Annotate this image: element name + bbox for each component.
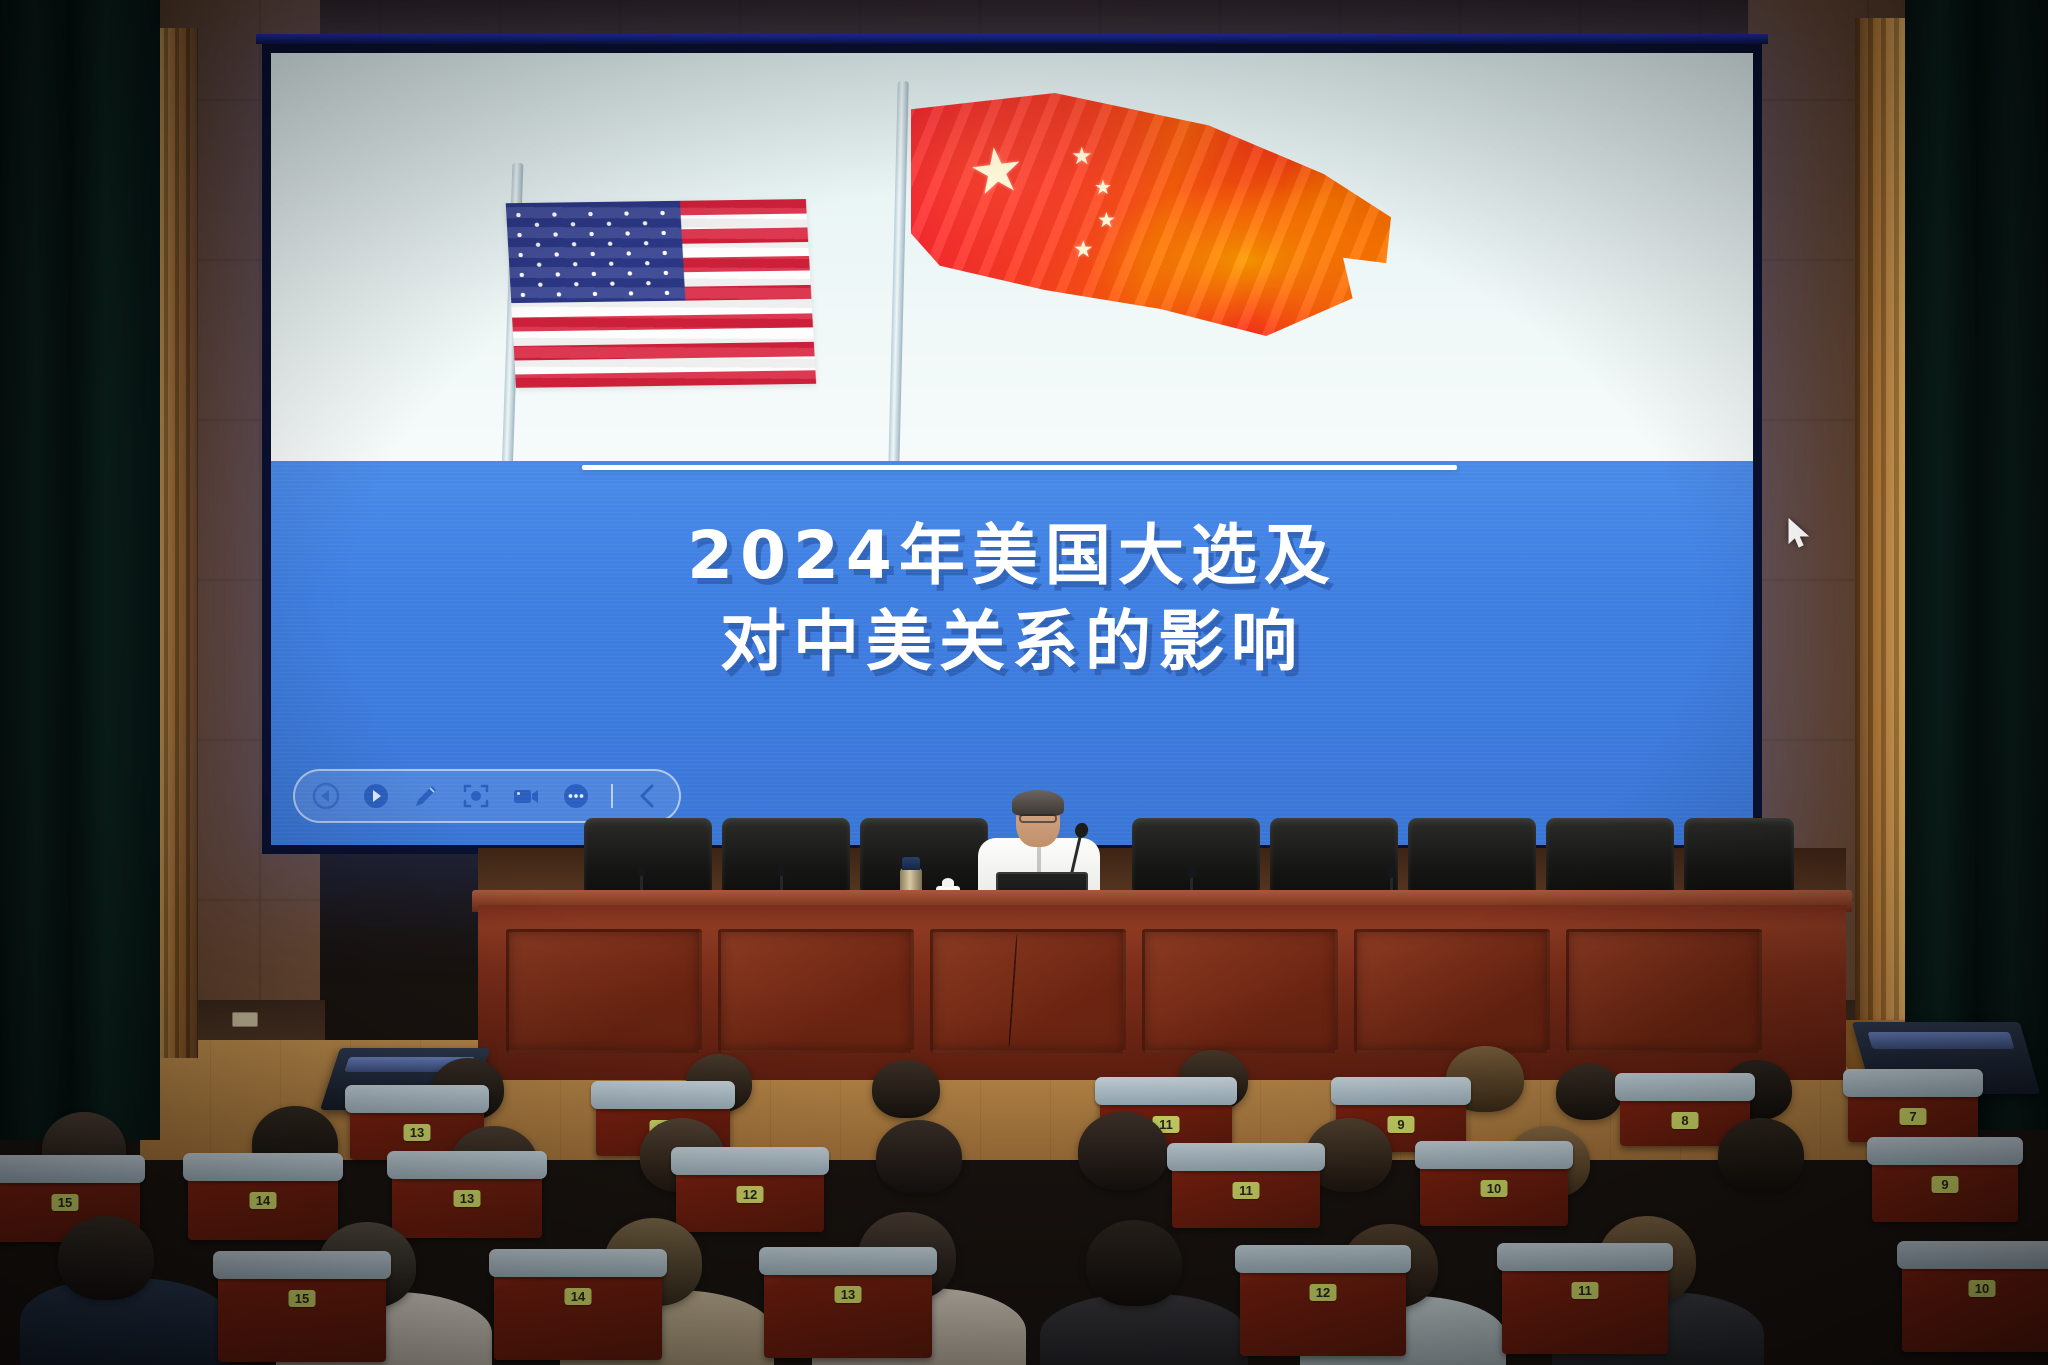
seat-cushion	[1867, 1137, 2023, 1165]
right-triangle-circle-icon[interactable]	[361, 781, 391, 811]
attendee-head	[872, 1060, 940, 1118]
seat-number-label: 10	[1481, 1180, 1508, 1197]
seat-cushion	[213, 1251, 391, 1279]
podium-panel	[506, 929, 702, 1053]
presentation-slide[interactable]: ★ ★ ★ ★ ★ 2024年美国大选及 对中美关系的影响	[271, 53, 1753, 845]
seat-number-label: 15	[289, 1290, 316, 1307]
podium-panel	[1142, 929, 1338, 1053]
seat-number-label: 9	[1932, 1176, 1959, 1193]
video-camera-icon[interactable]	[511, 781, 541, 811]
seat-number-label: 8	[1672, 1112, 1699, 1129]
seat[interactable]: 10	[1420, 1156, 1568, 1226]
seat-cushion	[1843, 1069, 1983, 1097]
stage-chair	[1270, 818, 1398, 900]
china-flag-star-3: ★	[1097, 210, 1116, 231]
seat-cushion	[759, 1247, 937, 1275]
seat-number-label: 14	[565, 1288, 592, 1305]
left-triangle-circle-icon[interactable]	[311, 781, 341, 811]
seat-number-label: 13	[454, 1190, 481, 1207]
seat[interactable]: 11	[1502, 1258, 1668, 1354]
stage-chair	[1546, 818, 1674, 900]
podium-panel	[718, 929, 914, 1053]
slide-title-line-1: 2024年美国大选及	[271, 513, 1753, 599]
seat-cushion	[183, 1153, 343, 1181]
china-flag-star-2: ★	[1094, 178, 1112, 198]
seat-cushion	[0, 1155, 145, 1183]
attendee-head	[876, 1120, 962, 1194]
stage-chair	[584, 818, 712, 900]
seat-cushion	[591, 1081, 735, 1109]
led-screen: ★ ★ ★ ★ ★ 2024年美国大选及 对中美关系的影响	[262, 44, 1762, 854]
seat-number-label: 11	[1572, 1282, 1599, 1299]
chevron-left-icon[interactable]	[633, 781, 663, 811]
china-flag-star-large: ★	[965, 138, 1028, 206]
china-flag-icon: ★ ★ ★ ★ ★	[911, 93, 1391, 363]
china-flag-star-4: ★	[1073, 238, 1094, 261]
seat-cushion	[489, 1249, 667, 1277]
seat-number-label: 12	[737, 1186, 764, 1203]
seat-number-label: 13	[404, 1124, 431, 1141]
seat-cushion	[1331, 1077, 1471, 1105]
stage-chair	[860, 818, 988, 900]
spotlight-focus-icon[interactable]	[461, 781, 491, 811]
dark-curtain-right	[1905, 0, 2048, 1130]
slide-title-line-2: 对中美关系的影响	[271, 599, 1753, 685]
seat[interactable]: 12	[1240, 1260, 1406, 1356]
slide-divider-rule	[582, 465, 1456, 470]
seat-number-label: 9	[1388, 1116, 1415, 1133]
seat[interactable]: 14	[188, 1168, 338, 1240]
seat[interactable]: 11	[1172, 1158, 1320, 1228]
attendee-head	[1718, 1118, 1804, 1192]
attendee-head	[58, 1216, 154, 1300]
seat-cushion	[1095, 1077, 1237, 1105]
podium-panel	[1566, 929, 1762, 1053]
toolbar-divider	[611, 784, 613, 808]
slide-photo-flags: ★ ★ ★ ★ ★	[271, 53, 1753, 461]
attendee-head	[1078, 1112, 1168, 1190]
seat-cushion	[387, 1151, 547, 1179]
attendee-head	[1556, 1064, 1622, 1120]
slide-title: 2024年美国大选及 对中美关系的影响	[271, 513, 1753, 685]
seat-cushion	[1615, 1073, 1755, 1101]
seat[interactable]: 15	[218, 1266, 386, 1362]
china-flag-star-1: ★	[1071, 145, 1093, 169]
seat-cushion	[1235, 1245, 1411, 1273]
seat-number-label: 14	[250, 1192, 277, 1209]
stage-chair	[1132, 818, 1260, 900]
slide-title-panel: 2024年美国大选及 对中美关系的影响	[271, 461, 1753, 845]
dark-curtain-left	[0, 0, 160, 1140]
stage-chair	[1684, 818, 1794, 900]
seat-cushion	[1167, 1143, 1325, 1171]
seat-cushion	[1497, 1243, 1673, 1271]
presentation-toolbar[interactable]	[293, 769, 681, 823]
seat-number-label: 10	[1969, 1280, 1996, 1297]
us-flag-icon	[506, 199, 817, 388]
seat-number-label: 11	[1233, 1182, 1260, 1199]
seat[interactable]: 12	[676, 1162, 824, 1232]
china-flag-pole	[888, 81, 909, 461]
audience-seating: 13 12 11 9 8 7 15 14 13 12 11 10 9	[0, 1040, 2048, 1365]
seat-cushion	[671, 1147, 829, 1175]
seat[interactable]: 9	[1872, 1152, 2018, 1222]
lecture-hall-scene: ★ ★ ★ ★ ★ 2024年美国大选及 对中美关系的影响	[0, 0, 2048, 1365]
wall-socket-left	[232, 1012, 258, 1027]
seat[interactable]: 10	[1902, 1256, 2048, 1352]
seat-cushion	[1415, 1141, 1573, 1169]
stage-chair	[1408, 818, 1536, 900]
seat-cushion	[345, 1085, 489, 1113]
pen-icon[interactable]	[411, 781, 441, 811]
presenter-glasses	[1019, 814, 1057, 823]
seat-number-label: 13	[835, 1286, 862, 1303]
podium-panel	[1354, 929, 1550, 1053]
seat[interactable]: 14	[494, 1264, 662, 1360]
attendee-head	[1086, 1220, 1182, 1306]
ellipsis-circle-icon[interactable]	[561, 781, 591, 811]
seat[interactable]: 13	[764, 1262, 932, 1358]
seat-number-label: 7	[1900, 1108, 1927, 1125]
presenter-hair	[1012, 790, 1064, 816]
podium-panel	[930, 929, 1126, 1053]
seat-cushion	[1897, 1241, 2048, 1269]
seat[interactable]: 13	[392, 1166, 542, 1238]
seat-number-label: 12	[1310, 1284, 1337, 1301]
stage-chair	[722, 818, 850, 900]
seat[interactable]: 7	[1848, 1084, 1978, 1142]
seat-number-label: 15	[52, 1194, 79, 1211]
